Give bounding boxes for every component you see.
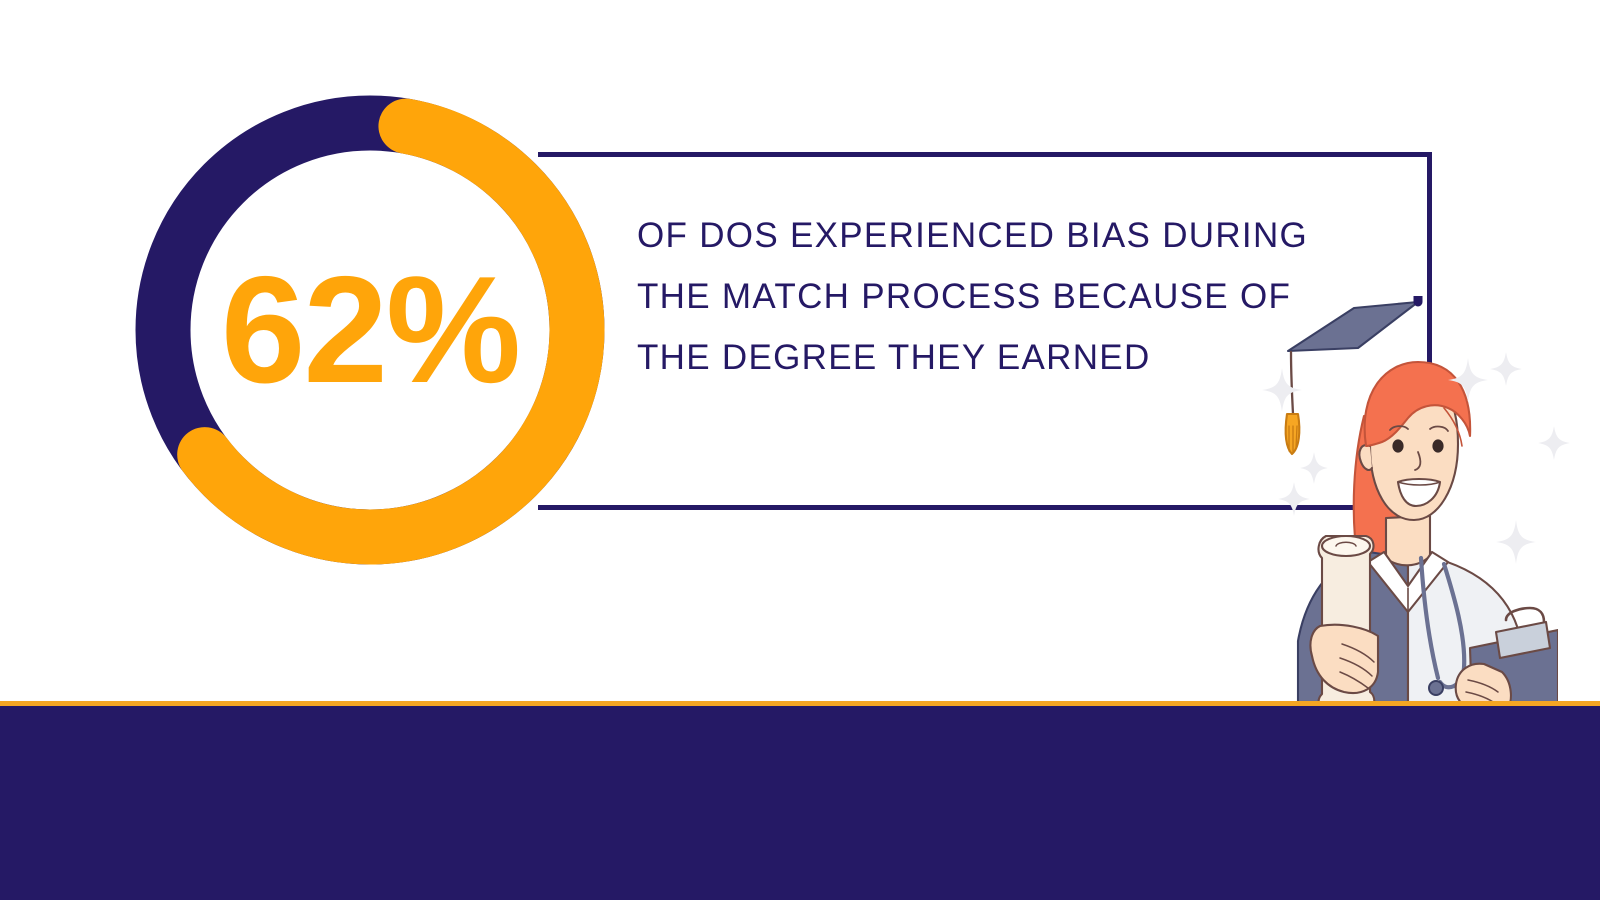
- stat-headline: OF DOS EXPERIENCED BIAS DURING THE MATCH…: [637, 205, 1337, 388]
- donut-percent-label: 62%: [135, 95, 605, 565]
- footer-band: SOURCE: AACOM Bias Survey #AACOMADVOCATE…: [0, 706, 1600, 900]
- infographic-canvas: 62% OF DOS EXPERIENCED BIAS DURING THE M…: [0, 0, 1600, 900]
- donut-chart: 62%: [135, 95, 605, 565]
- osteopathic-graduate-illustration: [1258, 296, 1558, 706]
- tassel-icon: [1286, 414, 1300, 454]
